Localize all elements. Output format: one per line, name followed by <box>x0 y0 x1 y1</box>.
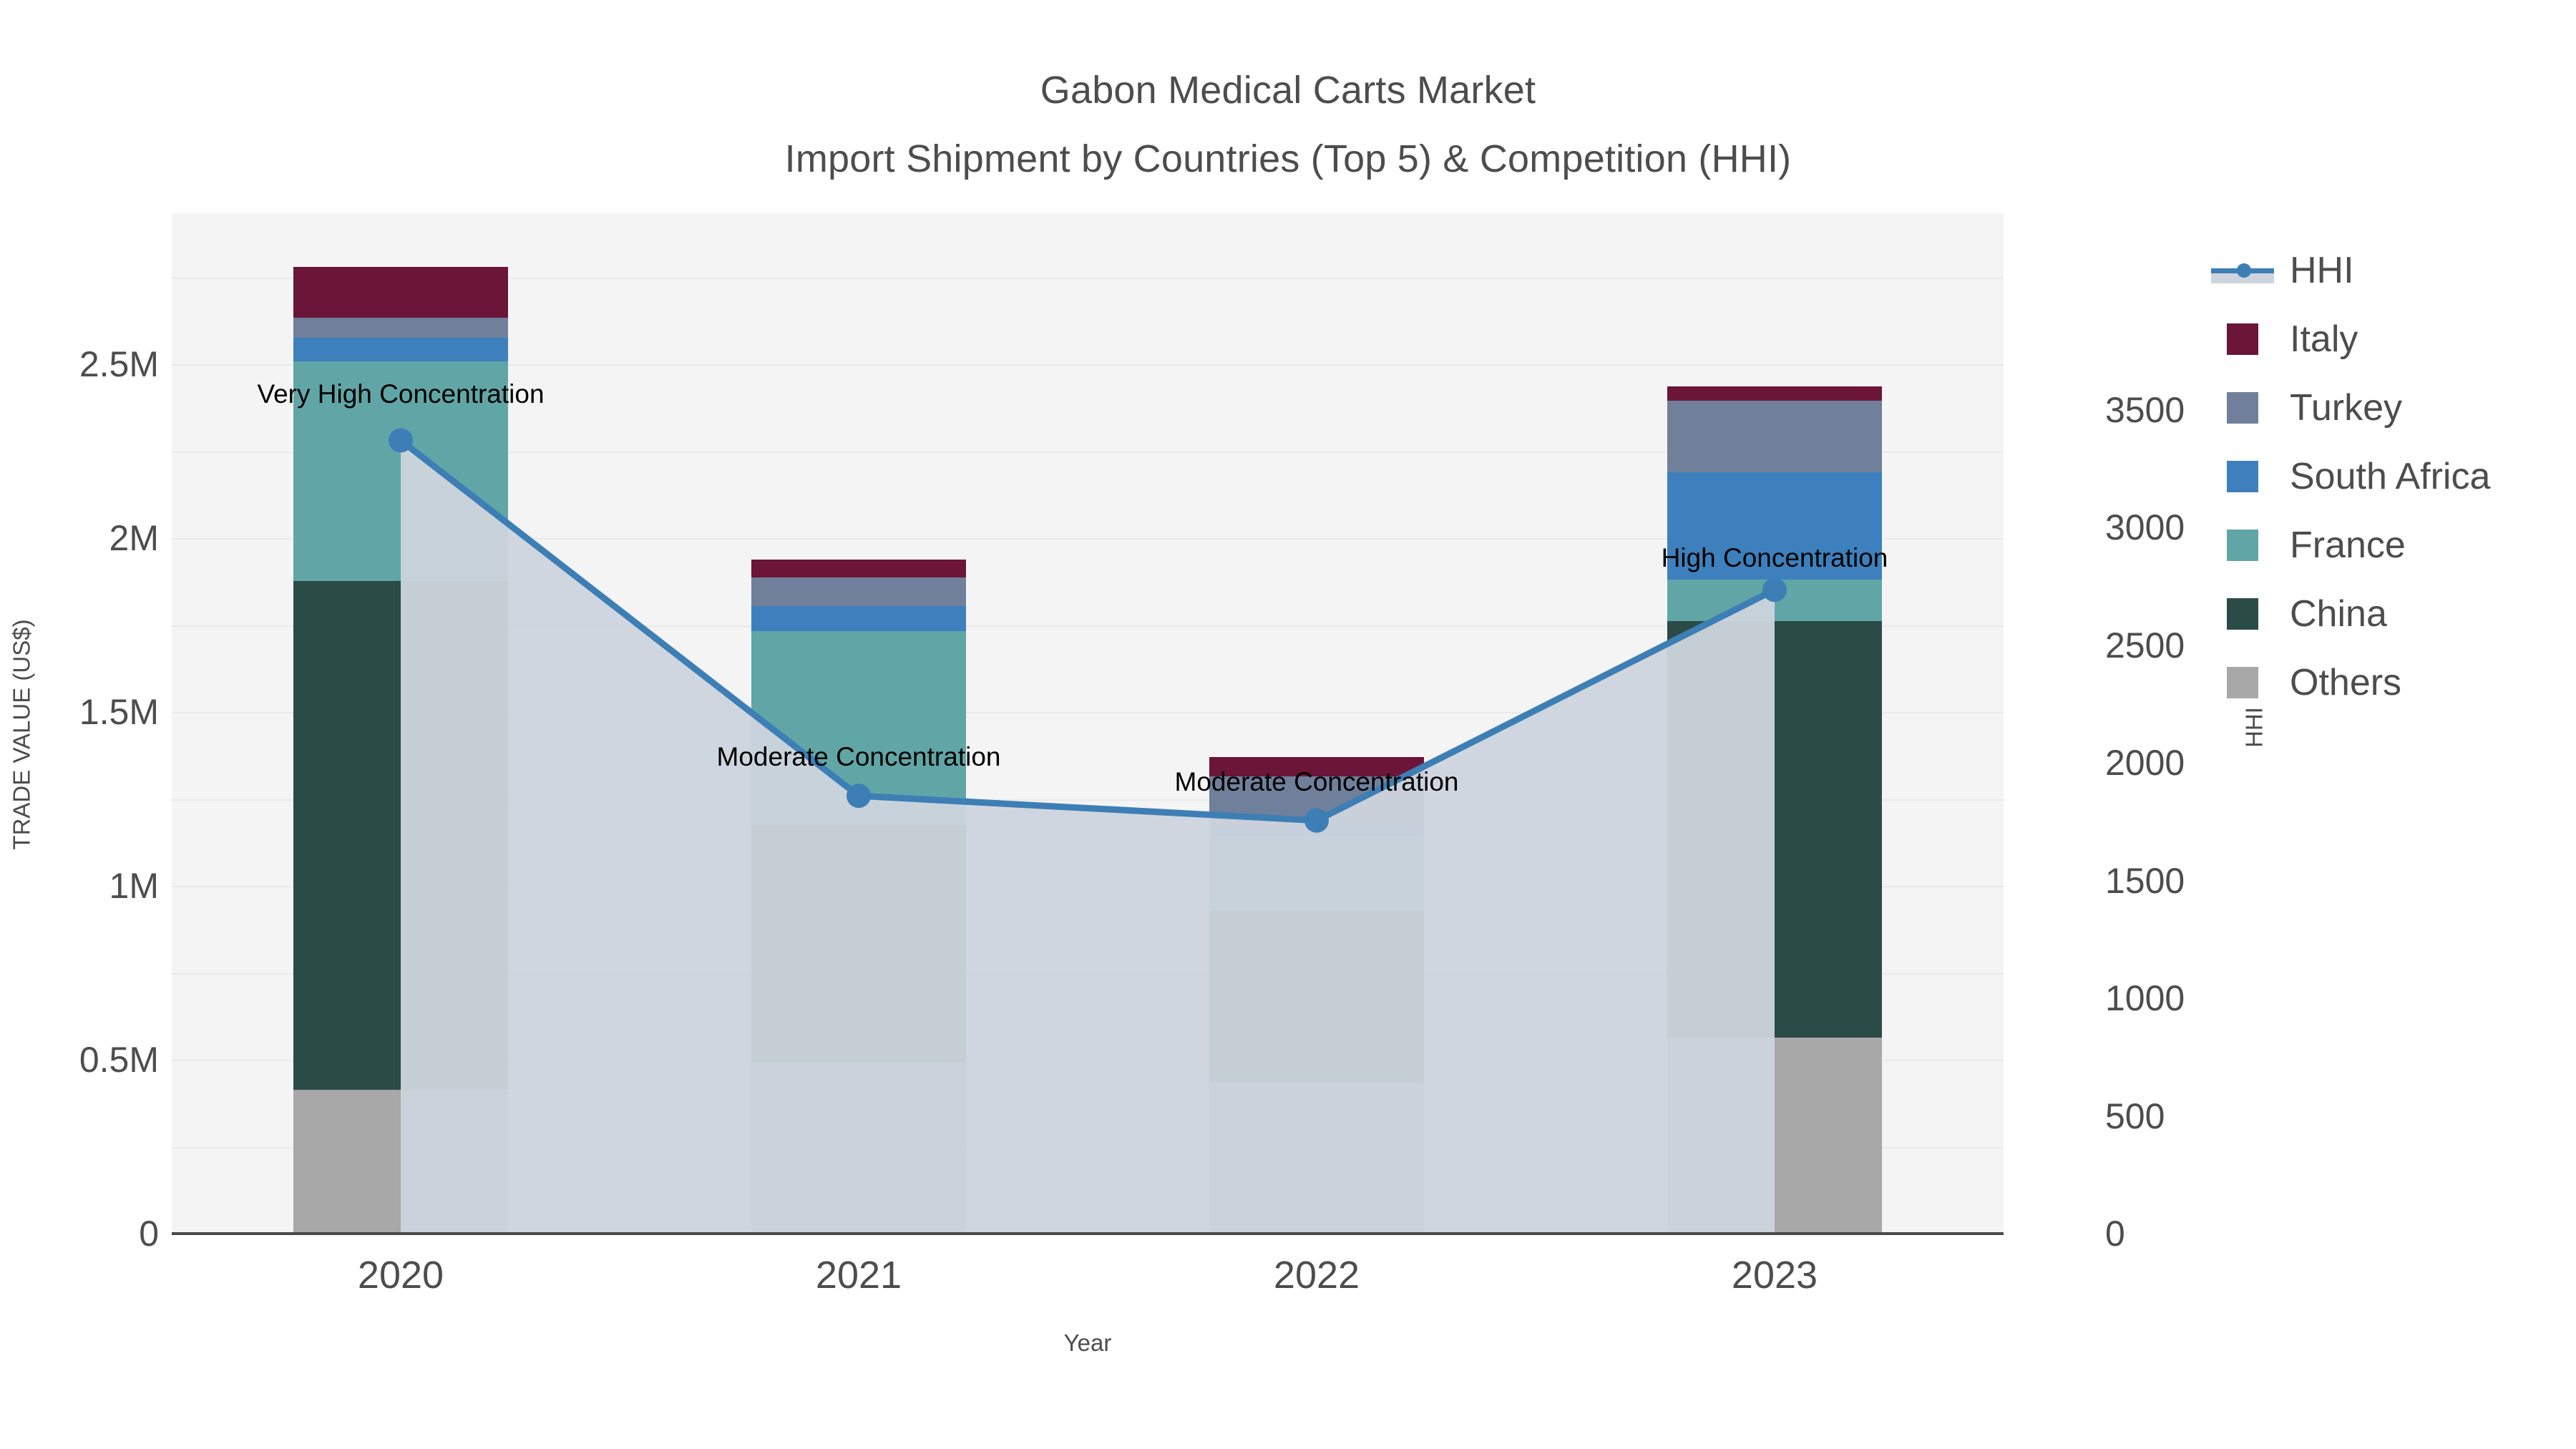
y-tick-right: 1500 <box>2105 863 2348 899</box>
bar-segment-italy[interactable] <box>751 560 966 577</box>
bar-segment-turkey[interactable] <box>293 318 508 338</box>
bar-segment-south-africa[interactable] <box>1209 829 1424 836</box>
annotation-2022: Moderate Concentration <box>995 768 1639 796</box>
x-tick-2022: 2022 <box>1174 1254 1460 1297</box>
bar-segment-turkey[interactable] <box>751 577 966 606</box>
hhi-line-icon <box>2211 255 2274 286</box>
bar-segment-others[interactable] <box>751 1063 966 1234</box>
legend-label: HHI <box>2290 250 2354 291</box>
y-tick-right: 500 <box>2105 1098 2348 1134</box>
x-tick-2020: 2020 <box>258 1254 544 1297</box>
legend-swatch-south-africa <box>2227 461 2258 492</box>
legend: HHIItalyTurkeySouth AfricaFranceChinaOth… <box>2211 236 2569 717</box>
x-axis-line <box>172 1232 2004 1235</box>
x-tick-2023: 2023 <box>1631 1254 1918 1297</box>
legend-label: Others <box>2290 663 2401 703</box>
legend-label: Italy <box>2290 319 2358 359</box>
y-tick-left: 2.5M <box>0 346 159 382</box>
bar-segment-china[interactable] <box>293 581 508 1090</box>
chart-title-block: Gabon Medical Carts Market Import Shipme… <box>0 56 2576 193</box>
y-tick-left: 0.5M <box>0 1042 159 1078</box>
legend-label: South Africa <box>2290 457 2490 497</box>
legend-item-south-africa[interactable]: South Africa <box>2211 442 2569 511</box>
chart-title: Gabon Medical Carts Market <box>0 56 2576 125</box>
legend-item-china[interactable]: China <box>2211 580 2569 648</box>
legend-item-france[interactable]: France <box>2211 511 2569 580</box>
bar-segment-italy[interactable] <box>293 267 508 318</box>
legend-label: China <box>2290 594 2387 634</box>
bar-segment-china[interactable] <box>1209 910 1424 1083</box>
y-tick-left: 0 <box>0 1216 159 1252</box>
legend-item-hhi[interactable]: HHI <box>2211 236 2569 305</box>
bar-segment-others[interactable] <box>293 1090 508 1234</box>
legend-swatch-china <box>2227 598 2258 630</box>
legend-swatch-others <box>2227 667 2258 698</box>
annotation-2020: Very High Concentration <box>79 380 723 409</box>
chart-root: Gabon Medical Carts Market Import Shipme… <box>0 0 2576 1449</box>
x-axis-title: Year <box>887 1331 1288 1355</box>
y-tick-right: 1000 <box>2105 980 2348 1016</box>
legend-swatch-italy <box>2227 323 2258 355</box>
legend-item-others[interactable]: Others <box>2211 648 2569 717</box>
bar-segment-france[interactable] <box>1667 580 1882 621</box>
bar-segment-china[interactable] <box>751 825 966 1063</box>
legend-label: Turkey <box>2290 388 2402 428</box>
bar-segment-turkey[interactable] <box>1667 401 1882 472</box>
bar-segment-others[interactable] <box>1667 1038 1882 1234</box>
legend-item-turkey[interactable]: Turkey <box>2211 374 2569 442</box>
bar-segment-france[interactable] <box>751 631 966 825</box>
x-tick-2021: 2021 <box>716 1254 1002 1297</box>
bar-segment-south-africa[interactable] <box>293 338 508 361</box>
legend-swatch-france <box>2227 530 2258 561</box>
bar-segment-france[interactable] <box>1209 836 1424 910</box>
legend-item-italy[interactable]: Italy <box>2211 305 2569 374</box>
bar-segment-italy[interactable] <box>1667 386 1882 401</box>
bar-segment-others[interactable] <box>1209 1083 1424 1234</box>
chart-subtitle: Import Shipment by Countries (Top 5) & C… <box>0 125 2576 193</box>
bar-segment-south-africa[interactable] <box>751 606 966 631</box>
y-axis-left-title: TRADE VALUE (US$) <box>10 549 34 921</box>
annotation-2023: High Concentration <box>1453 544 2097 572</box>
y-tick-right: 0 <box>2105 1216 2348 1252</box>
legend-label: France <box>2290 525 2406 565</box>
legend-swatch-turkey <box>2227 392 2258 424</box>
bar-segment-china[interactable] <box>1667 621 1882 1038</box>
y-tick-right: 2000 <box>2105 745 2348 781</box>
